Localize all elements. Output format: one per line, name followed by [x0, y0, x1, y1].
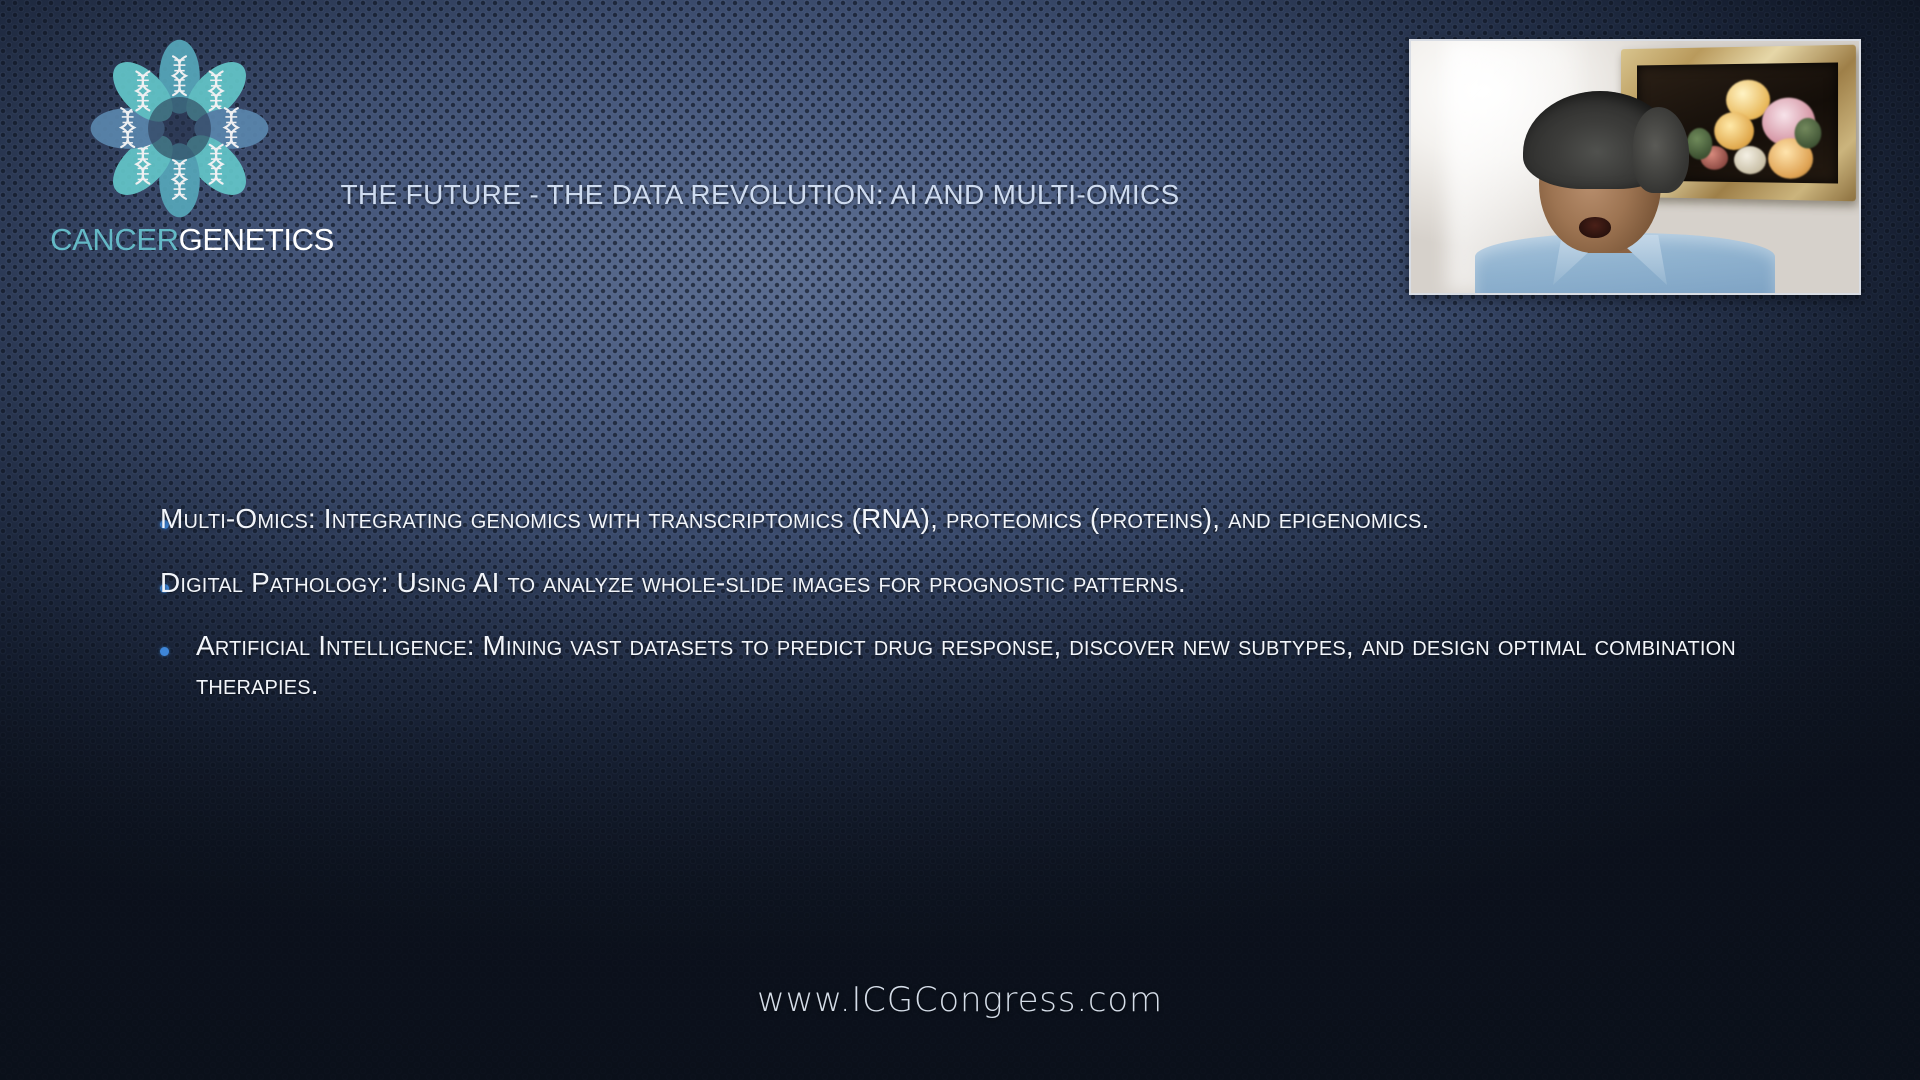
bullet-marker-icon: [160, 627, 196, 661]
brand-wordmark: CANCERGENETICS: [42, 224, 342, 255]
slide-title: THE FUTURE - THE DATA REVOLUTION: AI AND…: [330, 178, 1190, 212]
brand-logo-block: CANCERGENETICS: [42, 36, 342, 266]
presenter-video-feed[interactable]: [1409, 39, 1861, 295]
presentation-slide: CANCERGENETICS THE FUTURE - THE DATA REV…: [0, 0, 1920, 1080]
wordmark-genetics: GENETICS: [179, 222, 334, 257]
painting-foliage: [1795, 118, 1822, 149]
wordmark-cancer: CANCER: [50, 222, 179, 257]
list-item: Digital Pathology: Using AI to analyze w…: [160, 564, 1780, 603]
list-item: Multi-Omics: Integrating genomics with t…: [160, 500, 1780, 539]
footer-url[interactable]: www.ICGCongress.com: [0, 980, 1920, 1020]
painting-flower: [1734, 146, 1766, 174]
list-item: Artificial Intelligence: Mining vast dat…: [160, 627, 1780, 704]
presenter-mouth: [1579, 217, 1611, 238]
bullet-list: Multi-Omics: Integrating genomics with t…: [160, 500, 1780, 730]
bullet-text-digital-pathology: Digital Pathology: Using AI to analyze w…: [196, 564, 1780, 603]
bullet-text-multi-omics: Multi-Omics: Integrating genomics with t…: [196, 500, 1780, 539]
painting-foliage: [1687, 128, 1712, 160]
painting-flower: [1714, 112, 1754, 150]
cancer-genetics-dna-flower-logo: [87, 36, 272, 221]
bullet-text-artificial-intelligence: Artificial Intelligence: Mining vast dat…: [196, 627, 1780, 704]
